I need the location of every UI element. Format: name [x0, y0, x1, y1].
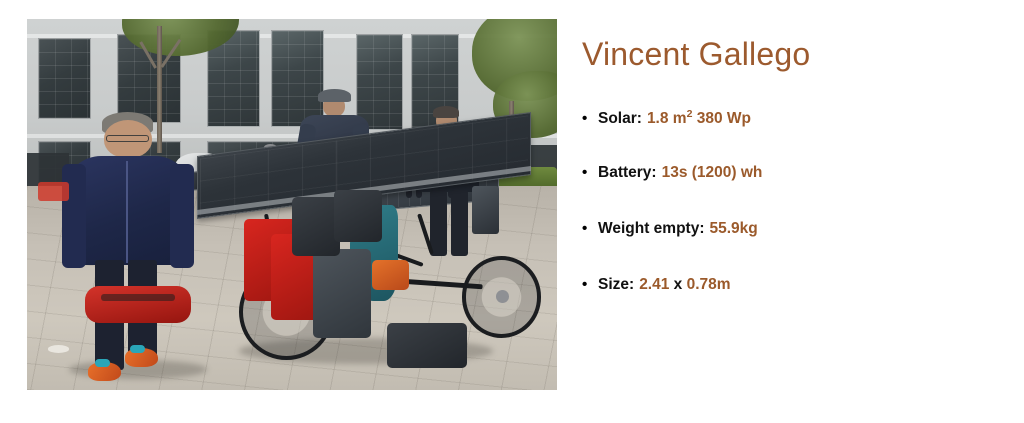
person-arm [170, 164, 194, 268]
building-window [38, 38, 91, 120]
duffel-strap [101, 294, 175, 301]
wheel-hub [496, 290, 509, 303]
person-leg [430, 190, 447, 255]
eyeglasses [106, 135, 149, 142]
shoe-accent [130, 345, 145, 353]
spec-value-weight: 55.9kg [710, 220, 758, 238]
spec-item-weight: • Weight empty: 55.9kg [582, 220, 1002, 276]
bullet-dot-icon: • [582, 221, 598, 236]
spec-value-solar: 1.8 m2 380 Wp [647, 108, 751, 128]
red-duffel-bag [85, 286, 191, 323]
background-object [38, 182, 70, 201]
size-separator: x [674, 276, 683, 293]
tool-bag [387, 323, 467, 368]
bullet-dot-icon: • [582, 165, 598, 180]
jacket-zipper [126, 161, 128, 263]
person-arm [62, 164, 86, 268]
spec-item-size: • Size: 2.41 x 0.78m [582, 276, 1002, 332]
flat-cap [318, 89, 351, 102]
presentation-slide: Vincent Gallego • Solar: 1.8 m2 380 Wp •… [0, 0, 1024, 423]
bullet-dot-icon: • [582, 111, 598, 126]
spec-label-size: Size: [598, 276, 634, 294]
spec-label-battery: Battery: [598, 164, 657, 182]
spec-value-size: 2.41 x 0.78m [639, 276, 730, 294]
text-content-column: Vincent Gallego • Solar: 1.8 m2 380 Wp •… [582, 0, 1002, 423]
ground-marker [48, 345, 69, 352]
event-photo [27, 19, 557, 390]
spec-value-size-width: 0.78m [687, 276, 731, 293]
spec-item-solar: • Solar: 1.8 m2 380 Wp [582, 108, 1002, 164]
photo-canvas [27, 19, 557, 390]
grey-pannier [313, 249, 371, 338]
bullet-dot-icon: • [582, 277, 598, 292]
person-hair [433, 106, 459, 118]
person-leg [451, 190, 468, 255]
spec-value-battery: 13s (1200) wh [662, 164, 763, 182]
spec-value-solar-power: 380 Wp [692, 110, 751, 127]
shoe-accent [95, 359, 110, 367]
orange-bag [372, 260, 409, 290]
spec-item-battery: • Battery: 13s (1200) wh [582, 164, 1002, 220]
dark-bag [292, 197, 340, 256]
bottle [472, 186, 499, 234]
spec-label-solar: Solar: [598, 110, 642, 128]
spec-value-solar-area: 1.8 m [647, 110, 687, 127]
spec-label-weight: Weight empty: [598, 220, 705, 238]
page-title: Vincent Gallego [582, 36, 810, 73]
spec-list: • Solar: 1.8 m2 380 Wp • Battery: 13s (1… [582, 108, 1002, 332]
foreground-person [64, 112, 191, 387]
dark-bag [334, 190, 382, 242]
spec-value-size-length: 2.41 [639, 276, 669, 293]
